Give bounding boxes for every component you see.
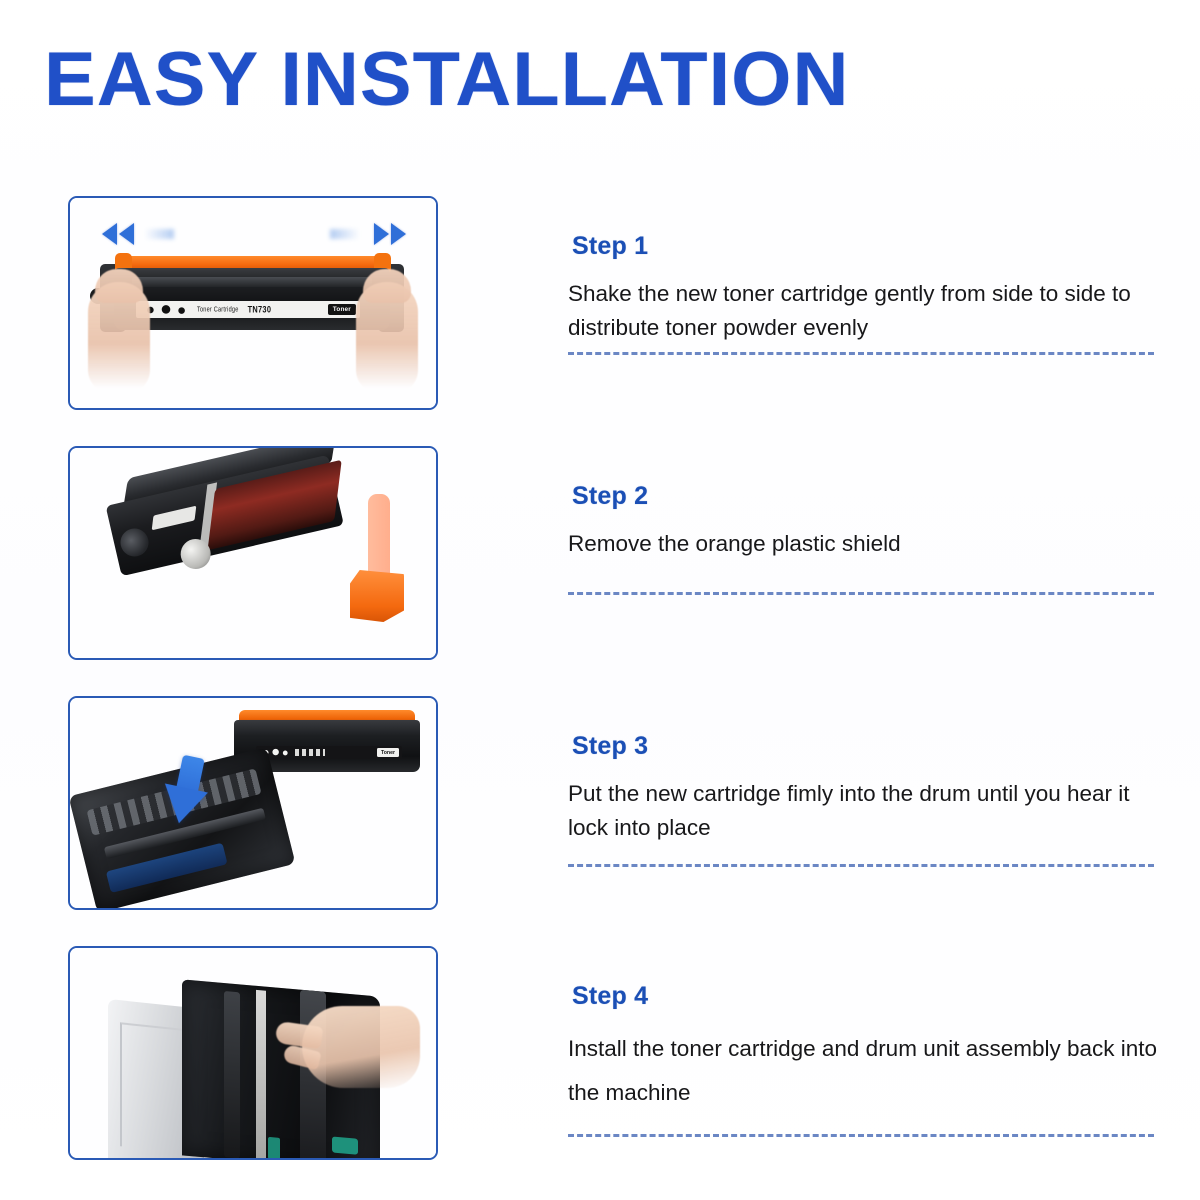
step-2-image-panel [68, 446, 438, 660]
step-row: Step 2 Remove the orange plastic shield [0, 446, 1200, 696]
step-4-body: Install the toner cartridge and drum uni… [568, 1027, 1160, 1115]
step-1-heading: Step 1 [572, 232, 1166, 261]
cartridge-label-model: TN730 [248, 304, 272, 315]
step-3-image-panel: Toner [68, 696, 438, 910]
step-1-image-panel: Toner Cartridge TN730 Toner [68, 196, 438, 410]
step-3-body: Put the new cartridge fimly into the dru… [568, 777, 1160, 845]
step-3-heading: Step 3 [572, 732, 1166, 761]
cartridge-label-badge: Toner [328, 304, 356, 315]
page-title: EASY INSTALLATION [44, 40, 849, 120]
step-1-body: Shake the new toner cartridge gently fro… [568, 277, 1160, 345]
shake-right-arrows-icon [374, 223, 406, 245]
toner-cartridge: Toner Cartridge TN730 Toner [114, 256, 390, 342]
step-row: Toner Step 3 Put the new cartridge fimly… [0, 696, 1200, 946]
step-row: Toner Cartridge TN730 Toner Step 1 Shake… [0, 196, 1200, 446]
scene-install-into-printer [70, 948, 436, 1158]
step-1-text: Step 1 Shake the new toner cartridge gen… [566, 196, 1166, 345]
step-3-divider [568, 864, 1154, 867]
scene-shake-cartridge: Toner Cartridge TN730 Toner [70, 198, 436, 408]
cartridge-body: Toner Cartridge TN730 Toner [114, 268, 390, 330]
step-row: Step 4 Install the toner cartridge and d… [0, 946, 1200, 1196]
step-1-divider [568, 352, 1154, 355]
shield-body [368, 494, 390, 578]
step-4-text: Step 4 Install the toner cartridge and d… [566, 946, 1166, 1115]
orange-plastic-shield [350, 494, 404, 622]
motion-trail-right [330, 229, 360, 239]
cartridge-label: Toner Cartridge TN730 Toner [136, 301, 360, 318]
scene-remove-shield [70, 448, 436, 658]
cartridge-label-badge: Toner [377, 748, 399, 757]
cartridge-label-product: Toner Cartridge [197, 306, 239, 314]
cartridge-ridge [132, 277, 372, 287]
shield-pull-tab [350, 570, 404, 622]
step-2-text: Step 2 Remove the orange plastic shield [566, 446, 1166, 561]
cartridge-label-text [295, 749, 325, 756]
steps-list: Toner Cartridge TN730 Toner Step 1 Shake… [0, 196, 1200, 1196]
step-2-body: Remove the orange plastic shield [568, 527, 1160, 561]
installing-hand [302, 1006, 420, 1088]
step-4-heading: Step 4 [572, 982, 1166, 1011]
step-2-heading: Step 2 [572, 482, 1166, 511]
step-4-image-panel [68, 946, 438, 1160]
left-hand [88, 282, 150, 394]
toner-cartridge [97, 446, 363, 600]
step-3-text: Step 3 Put the new cartridge fimly into … [566, 696, 1166, 845]
green-slider-icon [268, 1137, 280, 1160]
step-2-divider [568, 592, 1154, 595]
step-4-divider [568, 1134, 1154, 1137]
cartridge-label: Toner [256, 746, 402, 759]
green-tab-icon [332, 1136, 358, 1154]
right-hand [356, 282, 418, 394]
assembly-slot-1 [224, 991, 240, 1158]
motion-trail-left [144, 229, 174, 239]
scene-insert-cartridge: Toner [70, 698, 436, 908]
shake-left-arrows-icon [102, 223, 134, 245]
assembly-slot-2 [256, 990, 266, 1160]
